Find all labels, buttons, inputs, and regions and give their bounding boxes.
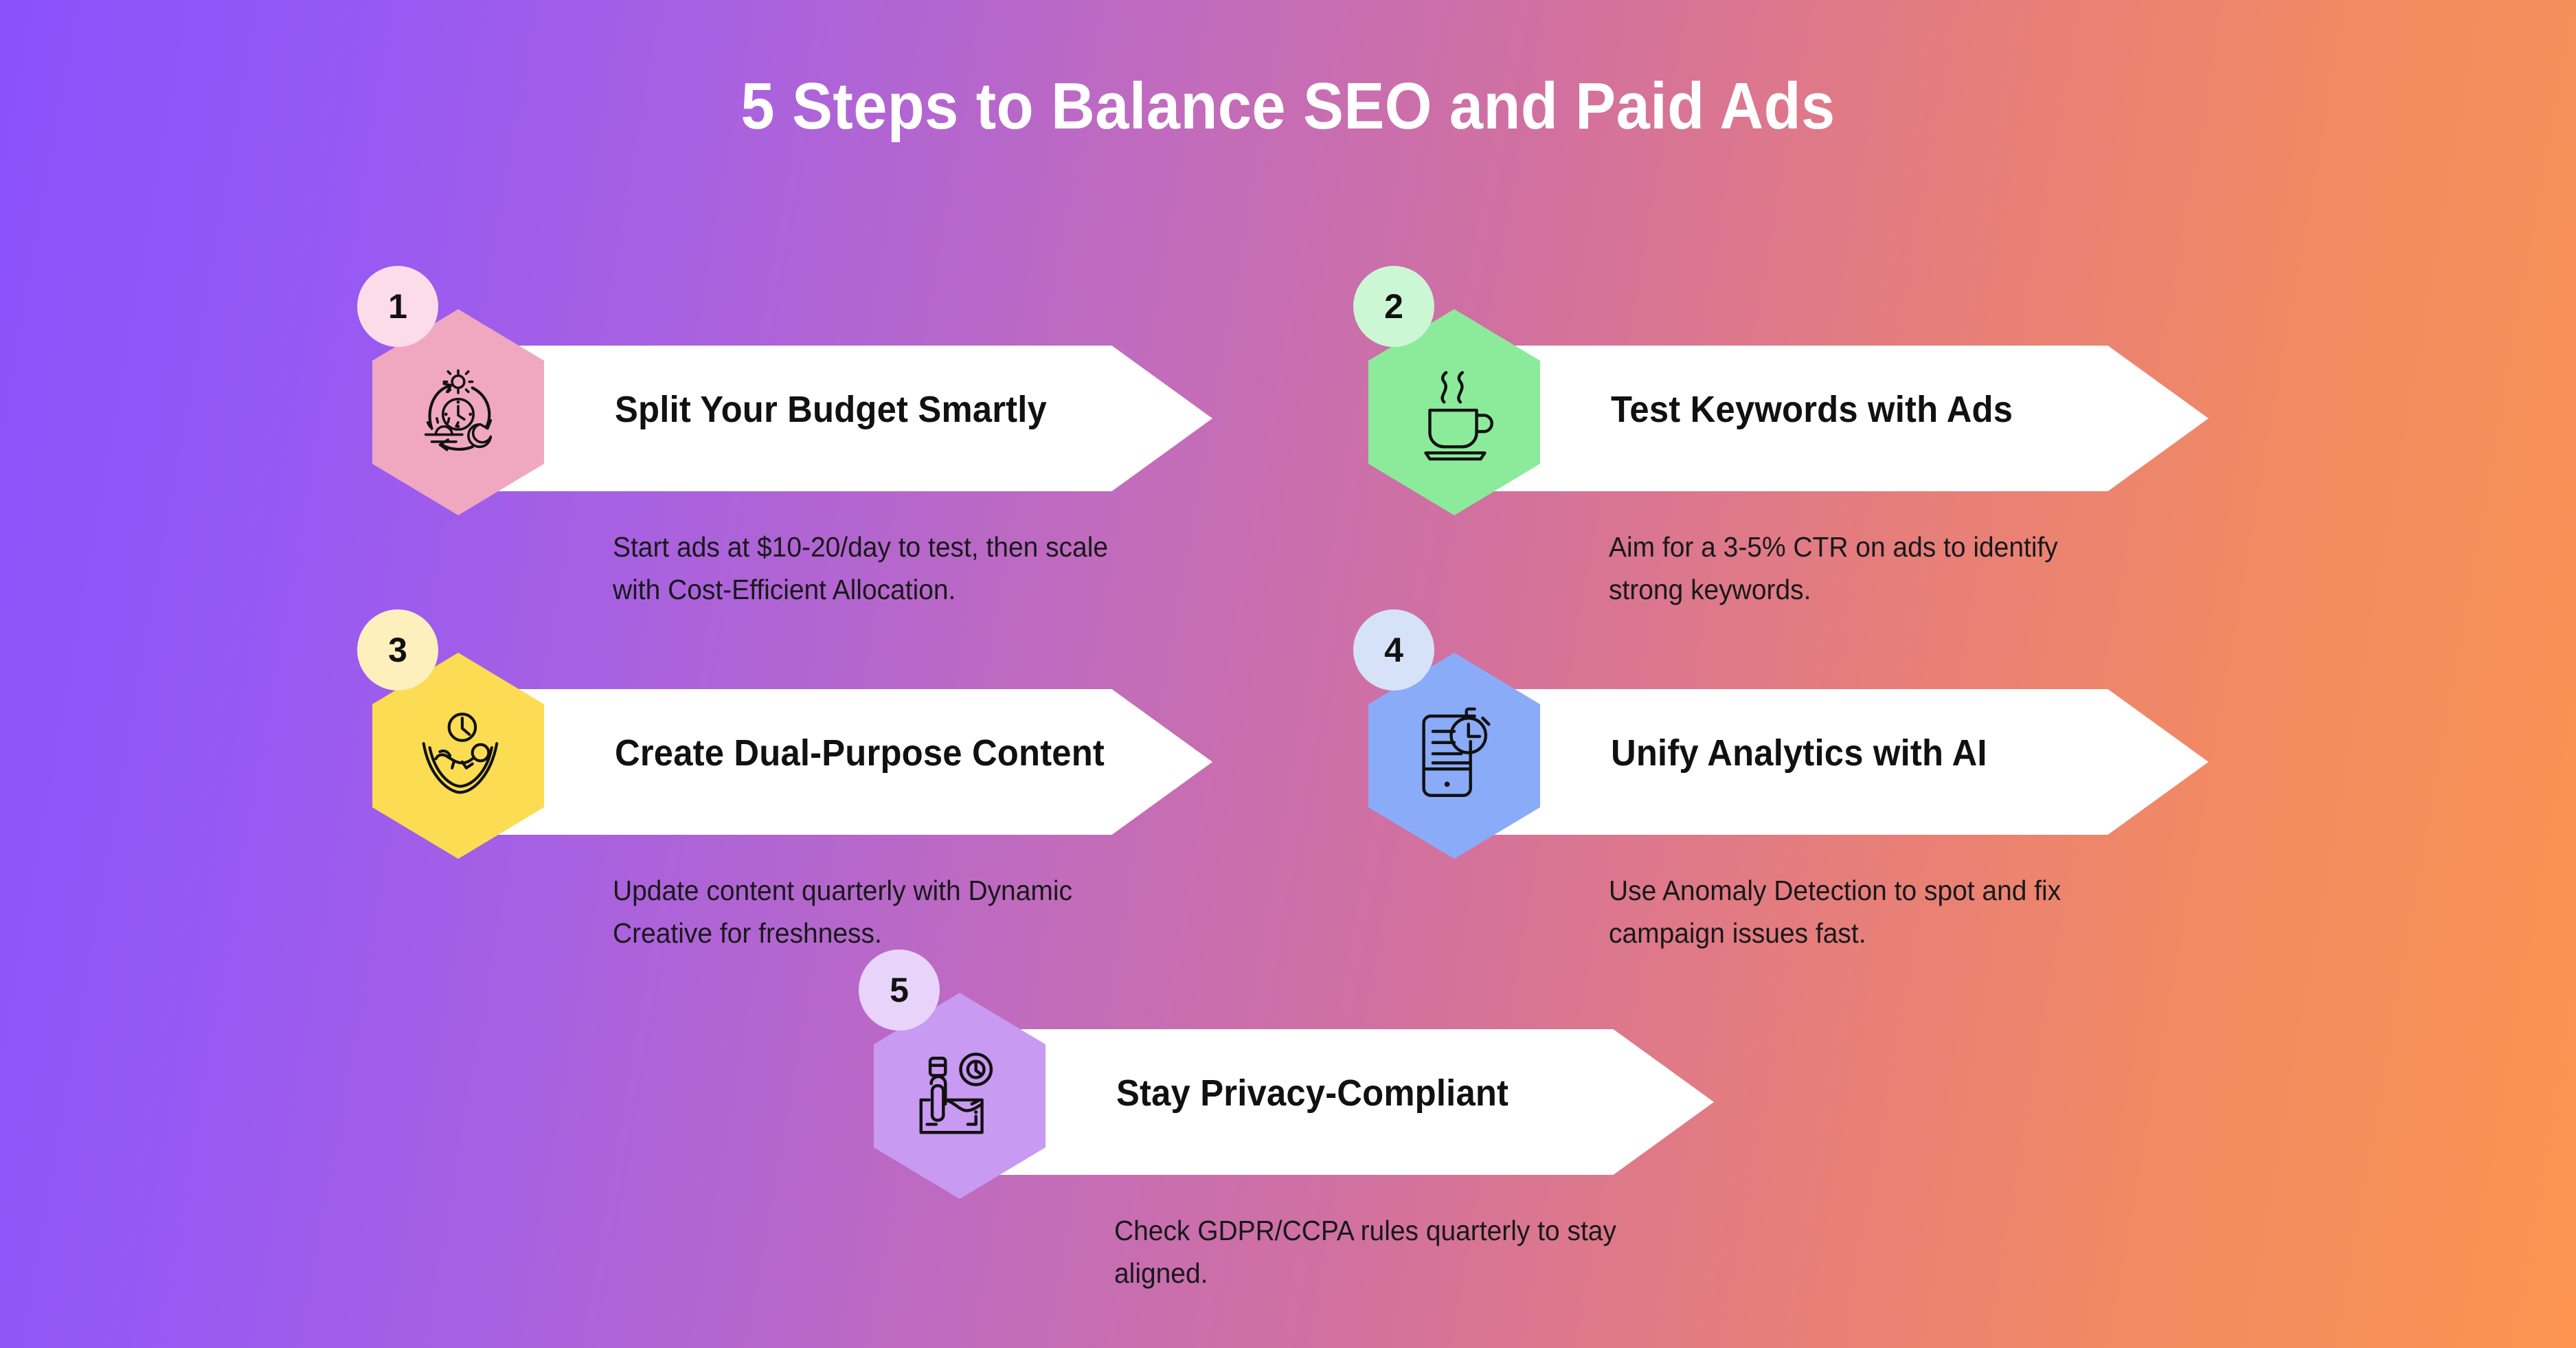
hammock-clock-icon: [407, 705, 509, 807]
step-title: Test Keywords with Ads: [1611, 388, 2140, 431]
step-number-badge: 2: [1353, 266, 1434, 347]
step-card-4: Unify Analytics with AI 4 Use Anomaly De…: [1353, 625, 2315, 982]
step-title: Unify Analytics with AI: [1611, 732, 2140, 774]
step-number: 3: [388, 630, 407, 670]
step-card-3: Create Dual-Purpose Content 3 Update con…: [357, 625, 1319, 982]
step-description: Start ads at $10-20/day to test, then sc…: [613, 526, 1142, 611]
page-title: 5 Steps to Balance SEO and Paid Ads: [103, 69, 2473, 144]
step-number-badge: 3: [357, 609, 438, 690]
step-description: Update content quarterly with Dynamic Cr…: [613, 869, 1142, 954]
step-number-badge: 5: [859, 950, 940, 1031]
step-description: Use Anomaly Detection to spot and fix ca…: [1609, 869, 2138, 954]
step-number-badge: 4: [1353, 609, 1434, 690]
desk-person-clock-icon: [909, 1045, 1010, 1147]
step-number: 4: [1384, 630, 1403, 670]
step-card-2: Test Keywords with Ads 2 Aim for a 3-5% …: [1353, 282, 2315, 639]
coffee-cup-icon: [1403, 361, 1505, 463]
tablet-stopwatch-icon: [1403, 705, 1505, 807]
step-description: Check GDPR/CCPA rules quarterly to stay …: [1114, 1209, 1643, 1294]
step-title: Split Your Budget Smartly: [615, 388, 1144, 431]
step-title: Stay Privacy-Compliant: [1116, 1072, 1646, 1114]
day-night-cycle-icon: [407, 361, 509, 463]
step-card-1: Split Your Budget Smartly: [357, 282, 1319, 639]
step-card-5: Stay Privacy-Compliant 5 Check: [859, 965, 1820, 1323]
step-number-badge: 1: [357, 266, 438, 347]
step-number: 5: [890, 970, 909, 1010]
step-number: 2: [1384, 287, 1403, 326]
step-number: 1: [388, 287, 407, 326]
infographic-canvas: 5 Steps to Balance SEO and Paid Ads Spli…: [0, 0, 2576, 1348]
step-title: Create Dual-Purpose Content: [615, 732, 1144, 774]
step-description: Aim for a 3-5% CTR on ads to identify st…: [1609, 526, 2138, 611]
